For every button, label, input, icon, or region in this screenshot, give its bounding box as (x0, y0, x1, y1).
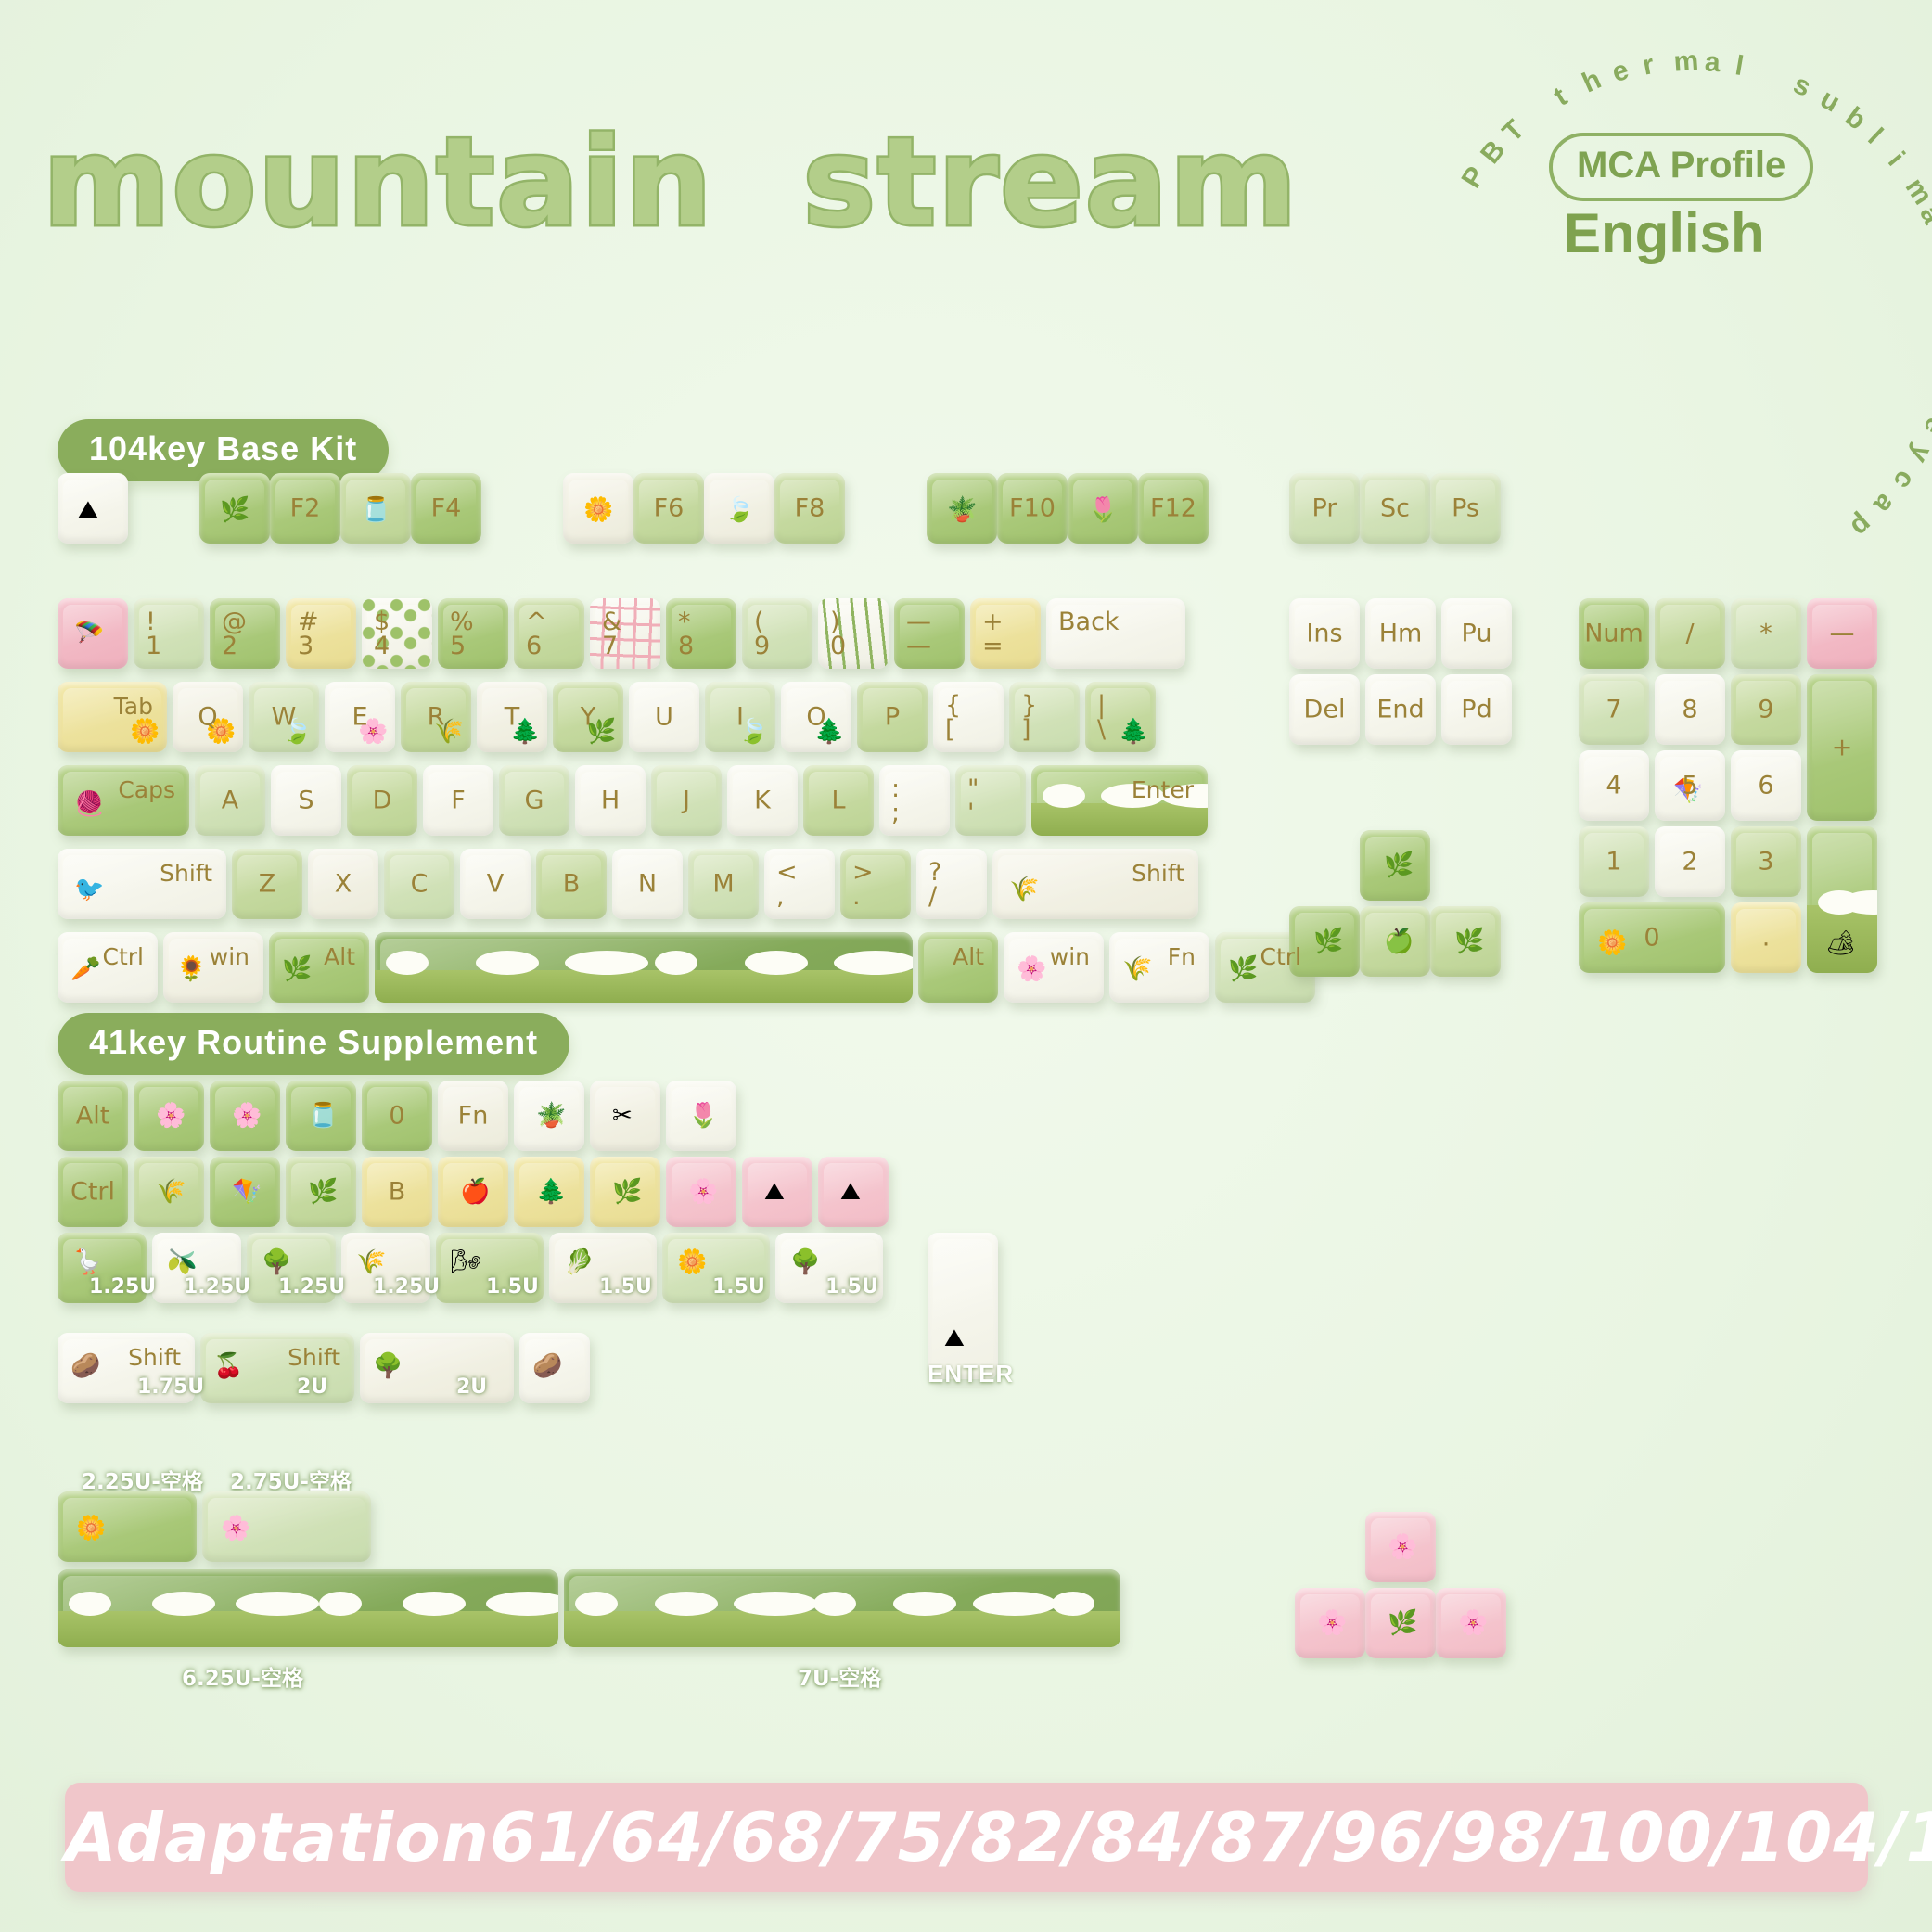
key-legend-bottom: 6 (526, 632, 542, 660)
key-illustration: 🌾 (1122, 956, 1152, 980)
circular-char: l (1733, 50, 1746, 83)
key-legend: Enter (1132, 776, 1194, 803)
numpad-3[interactable]: 3 (1731, 826, 1801, 897)
key-legend: Tab (114, 693, 153, 720)
key-legend: Q (173, 703, 243, 732)
key-illustration: 🌳 (373, 1353, 403, 1377)
key-legend: U (629, 703, 699, 732)
key-legend: T (477, 703, 547, 732)
key-u[interactable]: U (629, 682, 699, 752)
key-illustration: 🫙 (361, 497, 390, 521)
key-legend: A (195, 787, 265, 815)
key-legend: Ctrl (103, 943, 144, 970)
key-v[interactable]: V (460, 849, 531, 919)
key-legend: Pd (1441, 696, 1512, 724)
pink-key-right[interactable]: 🌸 (1436, 1588, 1506, 1658)
spacebar-2_75u[interactable]: 🌸 (202, 1491, 371, 1562)
supp-r2-7[interactable]: 🌿 (590, 1157, 660, 1227)
key-legend: K (727, 787, 798, 815)
supp-r1-4[interactable]: 0 (362, 1081, 432, 1151)
key-shift[interactable]: 🐦Shift (58, 849, 226, 919)
key-legend: 0 (1579, 924, 1725, 953)
key-legend: / (1655, 620, 1725, 648)
key-a[interactable]: A (195, 765, 265, 836)
key-fn9[interactable]: 🪴 (927, 473, 997, 544)
supp-r2-10[interactable]: ⛰ (818, 1157, 889, 1227)
key-legend: F10 (997, 494, 1068, 523)
key-y[interactable]: 🌿Y (553, 682, 623, 752)
supp-r4-2[interactable]: 🌳 (360, 1333, 514, 1403)
key-d[interactable]: D (347, 765, 417, 836)
cloud-shape (565, 951, 648, 975)
circular-char: y (1903, 440, 1932, 468)
key-ctrl-7[interactable]: 🌿Ctrl (1215, 932, 1315, 1003)
key-legend: 9 (1731, 696, 1801, 724)
key-legend: * (1731, 620, 1801, 648)
pink-key-left[interactable]: 🌸 (1295, 1588, 1365, 1658)
spacebar-size-label: 6.25U-空格 (182, 1660, 303, 1692)
numpad-5[interactable]: 🪁5 (1655, 750, 1725, 821)
key-2[interactable]: @2 (210, 598, 280, 669)
key-legend: F8 (774, 494, 845, 523)
key-legend: Pu (1441, 620, 1512, 648)
key-illustration: 🌿 (1228, 956, 1258, 980)
key-legend: Del (1289, 696, 1360, 724)
arrow-right[interactable]: 🌿 (1430, 906, 1501, 977)
key-legend: Ctrl (58, 1178, 128, 1207)
supp-r1-3[interactable]: 🫙 (286, 1081, 356, 1151)
key-size-label: 1.25U (184, 1275, 250, 1299)
circular-char: h (1578, 64, 1606, 100)
key-illustration: 🪁 (232, 1179, 262, 1203)
key-illustration: ⛰ (840, 1179, 861, 1203)
key-c[interactable]: C (384, 849, 454, 919)
key-3[interactable]: #3 (286, 598, 356, 669)
key-legend: Ins (1289, 620, 1360, 648)
key-shift[interactable]: 🌾Shift (992, 849, 1198, 919)
key-alt-2[interactable]: 🌿Alt (269, 932, 369, 1003)
key-fn5[interactable]: 🌼 (563, 473, 633, 544)
key-legend-bottom: = (982, 632, 1004, 660)
key-legend: S (271, 787, 341, 815)
numpad-6[interactable]: 6 (1731, 750, 1801, 821)
supp-r2-1[interactable]: 🌾 (134, 1157, 204, 1227)
key-legend: 6 (1731, 772, 1801, 800)
cloud-shape (745, 951, 808, 975)
grid-pattern (590, 598, 660, 669)
key-illustration: 🌼 (677, 1249, 707, 1273)
supp-r1-2[interactable]: 🌸 (210, 1081, 280, 1151)
key-/[interactable]: ?/ (916, 849, 987, 919)
circular-char: m (1899, 173, 1932, 211)
key-fn0[interactable]: ⛰ (58, 473, 128, 544)
spacebar-2_25u[interactable]: 🌼 (58, 1491, 197, 1562)
key-legend: C (384, 870, 454, 899)
key-legend: — (1807, 620, 1877, 648)
key-illustration: 🪴 (947, 497, 977, 521)
key-legend-bottom: ; (891, 799, 900, 827)
arrow-up[interactable]: 🌿 (1360, 830, 1430, 901)
numpad-8[interactable]: 8 (1655, 674, 1725, 745)
key-legend-bottom: ' (967, 799, 974, 827)
key-illustration: 🍒 (213, 1353, 243, 1377)
key-\[interactable]: 🌲|\ (1085, 682, 1156, 752)
spacebar-size-label: 2.75U-空格 (230, 1464, 352, 1495)
key-illustration: 🌸 (221, 1516, 250, 1540)
numpad-7[interactable]: 7 (1579, 674, 1649, 745)
key-caps[interactable]: 🧶Caps (58, 765, 189, 836)
circular-char: t (1549, 82, 1573, 113)
adaptation-text: Adaptation61/64/68/75/82/84/87/96/98/100… (65, 1798, 1868, 1876)
key-win-5[interactable]: 🌸win (1004, 932, 1104, 1003)
numpad-4[interactable]: 4 (1579, 750, 1649, 821)
supp-r2-8[interactable]: 🌸 (666, 1157, 736, 1227)
key-fn-6[interactable]: 🌾Fn (1109, 932, 1209, 1003)
key-illustration: 🌼 (76, 1516, 106, 1540)
key-illustration: 🌻 (176, 956, 206, 980)
key-legend: Fn (1168, 943, 1196, 970)
key-ctrl-0[interactable]: 🥕Ctrl (58, 932, 158, 1003)
key-r[interactable]: 🌾R (401, 682, 471, 752)
supp-r2-0[interactable]: Ctrl (58, 1157, 128, 1227)
key-legend: D (347, 787, 417, 815)
key-illustration: 🥬 (564, 1249, 594, 1273)
key-f2[interactable]: F2 (270, 473, 340, 544)
cloud-shape (834, 951, 913, 975)
key-illustration: 🍎 (460, 1179, 490, 1203)
key-alt-4[interactable]: Alt (918, 932, 998, 1003)
supp-r1-0[interactable]: Alt (58, 1081, 128, 1151)
key-legend: H (575, 787, 646, 815)
key-illustration: 🪂 (74, 621, 104, 645)
page-title-fill: mountain stream (43, 111, 1299, 254)
key-enter[interactable]: Enter (1031, 765, 1208, 836)
key-illustration: 🍏 (1384, 928, 1414, 953)
key-illustration: 🍃 (724, 497, 754, 521)
key-size-label: 1.5U (825, 1275, 878, 1299)
circular-char: B (1475, 134, 1512, 170)
key-legend: N (612, 870, 683, 899)
key-n[interactable]: N (612, 849, 683, 919)
supp-r2-9[interactable]: ⛰ (742, 1157, 812, 1227)
key-legend: Shift (160, 860, 212, 887)
key-f12[interactable]: F12 (1138, 473, 1209, 544)
numpad-+[interactable]: + (1807, 674, 1877, 821)
key-legend: + (1807, 734, 1877, 762)
key-legend: 2 (1655, 848, 1725, 876)
key-4[interactable]: $4 (362, 598, 432, 669)
key-legend: V (460, 870, 531, 899)
key-legend: Fn (438, 1102, 508, 1131)
key-legend: G (499, 787, 569, 815)
numpad-—[interactable]: — (1807, 598, 1877, 669)
key-illustration: ⛰ (764, 1179, 785, 1203)
language-label: English (1564, 201, 1765, 265)
key-tab[interactable]: 🌼Tab (58, 682, 167, 752)
key-size-label: 1.75U (137, 1375, 204, 1399)
circular-char: a (1704, 46, 1721, 79)
supp-r4-3[interactable]: 🥔 (519, 1333, 590, 1403)
numpad-0[interactable]: 🌼0 (1579, 902, 1725, 973)
key-.[interactable]: >. (840, 849, 911, 919)
key-Back[interactable]: Back (1046, 598, 1185, 669)
key-'[interactable]: "' (955, 765, 1026, 836)
key-legend: E (325, 703, 395, 732)
key-legend: B (536, 870, 607, 899)
key-=[interactable]: += (970, 598, 1041, 669)
key-q[interactable]: 🌼Q (173, 682, 243, 752)
key-illustration: 🌸 (1388, 1534, 1417, 1558)
key-p[interactable]: P (857, 682, 928, 752)
key-legend: . (1731, 924, 1801, 953)
key-fn7[interactable]: 🍃 (704, 473, 774, 544)
circular-char: e (1608, 55, 1632, 89)
key-fn1[interactable]: 🌿 (199, 473, 270, 544)
key-illustration: 🌿 (1388, 1610, 1417, 1634)
cloud-shape (386, 951, 429, 975)
key-f4[interactable]: F4 (411, 473, 481, 544)
key-legend: 1 (1579, 848, 1649, 876)
key-legend: Ctrl (1260, 943, 1301, 970)
key-legend: W (249, 703, 319, 732)
key-illustration: 🌼 (583, 497, 613, 521)
key-legend: 8 (1655, 696, 1725, 724)
circular-char: i (1881, 147, 1910, 173)
key-9[interactable]: (9 (742, 598, 812, 669)
circular-char: m (1672, 45, 1699, 79)
supp-enter-key[interactable]: ⛰ (928, 1233, 998, 1379)
key-legend: Caps (118, 776, 175, 803)
supp-r1-8[interactable]: 🌷 (666, 1081, 736, 1151)
key-legend: win (210, 943, 249, 970)
supp-r4-1[interactable]: 🍒Shift (200, 1333, 354, 1403)
key-tilde[interactable]: 🪂 (58, 598, 128, 669)
key-illustration: 🌿 (612, 1179, 642, 1203)
key-e[interactable]: 🌸E (325, 682, 395, 752)
key-[[interactable]: {[ (933, 682, 1004, 752)
key-legend-bottom: ] (1021, 715, 1031, 744)
key-x[interactable]: X (308, 849, 378, 919)
product-poster: mountain stream mountain stream PBT ther… (0, 0, 1932, 1932)
key-legend-bottom: 0 (830, 632, 846, 660)
key-legend: Shift (1132, 860, 1184, 887)
key-illustration: 🌸 (156, 1103, 186, 1127)
key-illustration: 🌿 (308, 1179, 338, 1203)
key-illustration: 🫙 (308, 1103, 338, 1127)
key-legend: Alt (58, 1102, 128, 1131)
key-fn3[interactable]: 🫙 (340, 473, 411, 544)
key-illustration: 🌸 (1458, 1610, 1488, 1634)
key-ps[interactable]: Ps (1430, 473, 1501, 544)
key-f10[interactable]: F10 (997, 473, 1068, 544)
supp-r2-6[interactable]: 🌲 (514, 1157, 584, 1227)
key-legend: Ps (1430, 494, 1501, 523)
key-j[interactable]: J (651, 765, 722, 836)
key-illustration: 🥔 (70, 1353, 100, 1377)
key-illustration: 🌬 (451, 1249, 481, 1273)
key-t[interactable]: 🌲T (477, 682, 547, 752)
key-s[interactable]: S (271, 765, 341, 836)
key-][interactable]: }] (1009, 682, 1080, 752)
key-legend: Hm (1365, 620, 1436, 648)
key-legend: L (803, 787, 874, 815)
key-size-label: 1.25U (373, 1275, 440, 1299)
key-legend: Alt (953, 943, 984, 970)
numpad-/[interactable]: / (1655, 598, 1725, 669)
key-f[interactable]: F (423, 765, 493, 836)
cloud-shape (476, 951, 539, 975)
numpad-*[interactable]: * (1731, 598, 1801, 669)
key-illustration: ✂ (612, 1103, 633, 1127)
key-legend-top: Back (1058, 608, 1120, 636)
key-legend-bottom: 3 (298, 632, 313, 660)
wave-pattern (818, 598, 889, 669)
key-l[interactable]: L (803, 765, 874, 836)
key-;[interactable]: :; (879, 765, 950, 836)
key-legend: 7 (1579, 696, 1649, 724)
key-illustration: 🐦 (74, 876, 104, 901)
arrow-down[interactable]: 🍏 (1360, 906, 1430, 977)
key-illustration: 🧶 (74, 791, 104, 815)
key-1[interactable]: !1 (134, 598, 204, 669)
key-space-3[interactable] (375, 932, 913, 1003)
supp-r2-2[interactable]: 🪁 (210, 1157, 280, 1227)
key-5[interactable]: %5 (438, 598, 508, 669)
supp-r2-4[interactable]: B (362, 1157, 432, 1227)
key-illustration: 🌳 (790, 1249, 820, 1273)
circular-char: k (1927, 385, 1932, 408)
key-illustration: 🌾 (356, 1249, 386, 1273)
pink-key-mid[interactable]: 🌿 (1365, 1588, 1436, 1658)
key-0[interactable]: )0 (818, 598, 889, 669)
circular-char: u (1814, 83, 1845, 120)
key-legend: Shift (128, 1344, 181, 1371)
key-7[interactable]: &7 (590, 598, 660, 669)
key-legend: X (308, 870, 378, 899)
key-end[interactable]: End (1365, 674, 1436, 745)
supp-r2-3[interactable]: 🌿 (286, 1157, 356, 1227)
hill-scene (375, 970, 913, 1003)
spacebar-size-label: 7U-空格 (798, 1660, 881, 1692)
key-b[interactable]: B (536, 849, 607, 919)
key-illustration: 🌿 (1313, 928, 1343, 953)
supp-r1-7[interactable]: ✂ (590, 1081, 660, 1151)
numpad-.[interactable]: . (1731, 902, 1801, 973)
supp-r1-1[interactable]: 🌸 (134, 1081, 204, 1151)
key-o[interactable]: 🌲O (781, 682, 851, 752)
key-legend: Y (553, 703, 623, 732)
key-8[interactable]: *8 (666, 598, 736, 669)
key-m[interactable]: M (688, 849, 759, 919)
key-pu[interactable]: Pu (1441, 598, 1512, 669)
key-legend-bottom: 2 (222, 632, 237, 660)
key-size-label: 2U (297, 1375, 327, 1399)
key-illustration: 🌸 (688, 1179, 718, 1203)
key-pd[interactable]: Pd (1441, 674, 1512, 745)
key-pr[interactable]: Pr (1289, 473, 1360, 544)
mca-profile-badge: MCA Profile (1549, 133, 1813, 201)
key-illustration: 🌸 (1017, 956, 1046, 980)
key-illustration: 🌾 (1009, 876, 1039, 901)
key-legend: 0 (362, 1102, 432, 1131)
key-illustration: 🌸 (232, 1103, 262, 1127)
numpad-Num[interactable]: Num (1579, 598, 1649, 669)
key-g[interactable]: G (499, 765, 569, 836)
cloud-shape (1043, 784, 1085, 808)
key-del[interactable]: Del (1289, 674, 1360, 745)
key-legend: Alt (324, 943, 355, 970)
key-illustration: 🪴 (536, 1103, 566, 1127)
key-legend: 3 (1731, 848, 1801, 876)
key-—[interactable]: —— (894, 598, 965, 669)
numpad-2[interactable]: 2 (1655, 826, 1725, 897)
circular-char: p (1844, 508, 1877, 544)
key-legend-bottom: / (928, 882, 937, 911)
key-legend-bottom: 1 (146, 632, 161, 660)
key-k[interactable]: K (727, 765, 798, 836)
key-legend: F2 (270, 494, 340, 523)
numpad-enter[interactable]: 🏕 (1807, 826, 1877, 973)
key-fn11[interactable]: 🌷 (1068, 473, 1138, 544)
key-illustration: 🌲 (536, 1179, 566, 1203)
key-legend: I (705, 703, 775, 732)
key-illustration: 🌸 (1317, 1610, 1347, 1634)
numpad-1[interactable]: 1 (1579, 826, 1649, 897)
key-w[interactable]: 🍃W (249, 682, 319, 752)
circular-char: c (1887, 465, 1921, 495)
key-legend-bottom: . (852, 882, 861, 911)
key-illustration: 🌳 (262, 1249, 291, 1273)
spacebar-6_25u[interactable] (58, 1569, 558, 1647)
key-illustration: 🥔 (532, 1353, 562, 1377)
numpad-9[interactable]: 9 (1731, 674, 1801, 745)
key-f6[interactable]: F6 (633, 473, 704, 544)
key-legend: Num (1579, 620, 1649, 648)
key-legend: P (857, 703, 928, 732)
key-sc[interactable]: Sc (1360, 473, 1430, 544)
supp-r2-5[interactable]: 🍎 (438, 1157, 508, 1227)
cloud-shape (655, 951, 697, 975)
key-f8[interactable]: F8 (774, 473, 845, 544)
key-ins[interactable]: Ins (1289, 598, 1360, 669)
key-illustration: 🪿 (72, 1249, 102, 1273)
supp-r1-6[interactable]: 🪴 (514, 1081, 584, 1151)
key-6[interactable]: ^6 (514, 598, 584, 669)
circular-char: a (1867, 487, 1901, 519)
key-legend: F4 (411, 494, 481, 523)
key-,[interactable]: <, (764, 849, 835, 919)
circular-char: t (1925, 231, 1932, 250)
spacebar-7u[interactable] (564, 1569, 1120, 1647)
key-legend: J (651, 787, 722, 815)
key-illustration: 🌼 (130, 719, 160, 743)
circular-char: l (1862, 122, 1888, 150)
key-legend-bottom: 9 (754, 632, 770, 660)
pink-key-top[interactable]: 🌸 (1365, 1512, 1436, 1582)
supp-r1-5[interactable]: Fn (438, 1081, 508, 1151)
key-z[interactable]: Z (232, 849, 302, 919)
key-illustration: 🥕 (70, 956, 100, 980)
key-legend-bottom: \ (1097, 715, 1106, 744)
key-legend: End (1365, 696, 1436, 724)
hill-scene (564, 1611, 1120, 1647)
profile-badge-group: PBT thermal sublimation keycap MCA Profi… (1497, 51, 1887, 320)
key-win-1[interactable]: 🌻win (163, 932, 263, 1003)
key-i[interactable]: 🍃I (705, 682, 775, 752)
key-illustration: 🌾 (156, 1179, 186, 1203)
key-hm[interactable]: Hm (1365, 598, 1436, 669)
key-h[interactable]: H (575, 765, 646, 836)
